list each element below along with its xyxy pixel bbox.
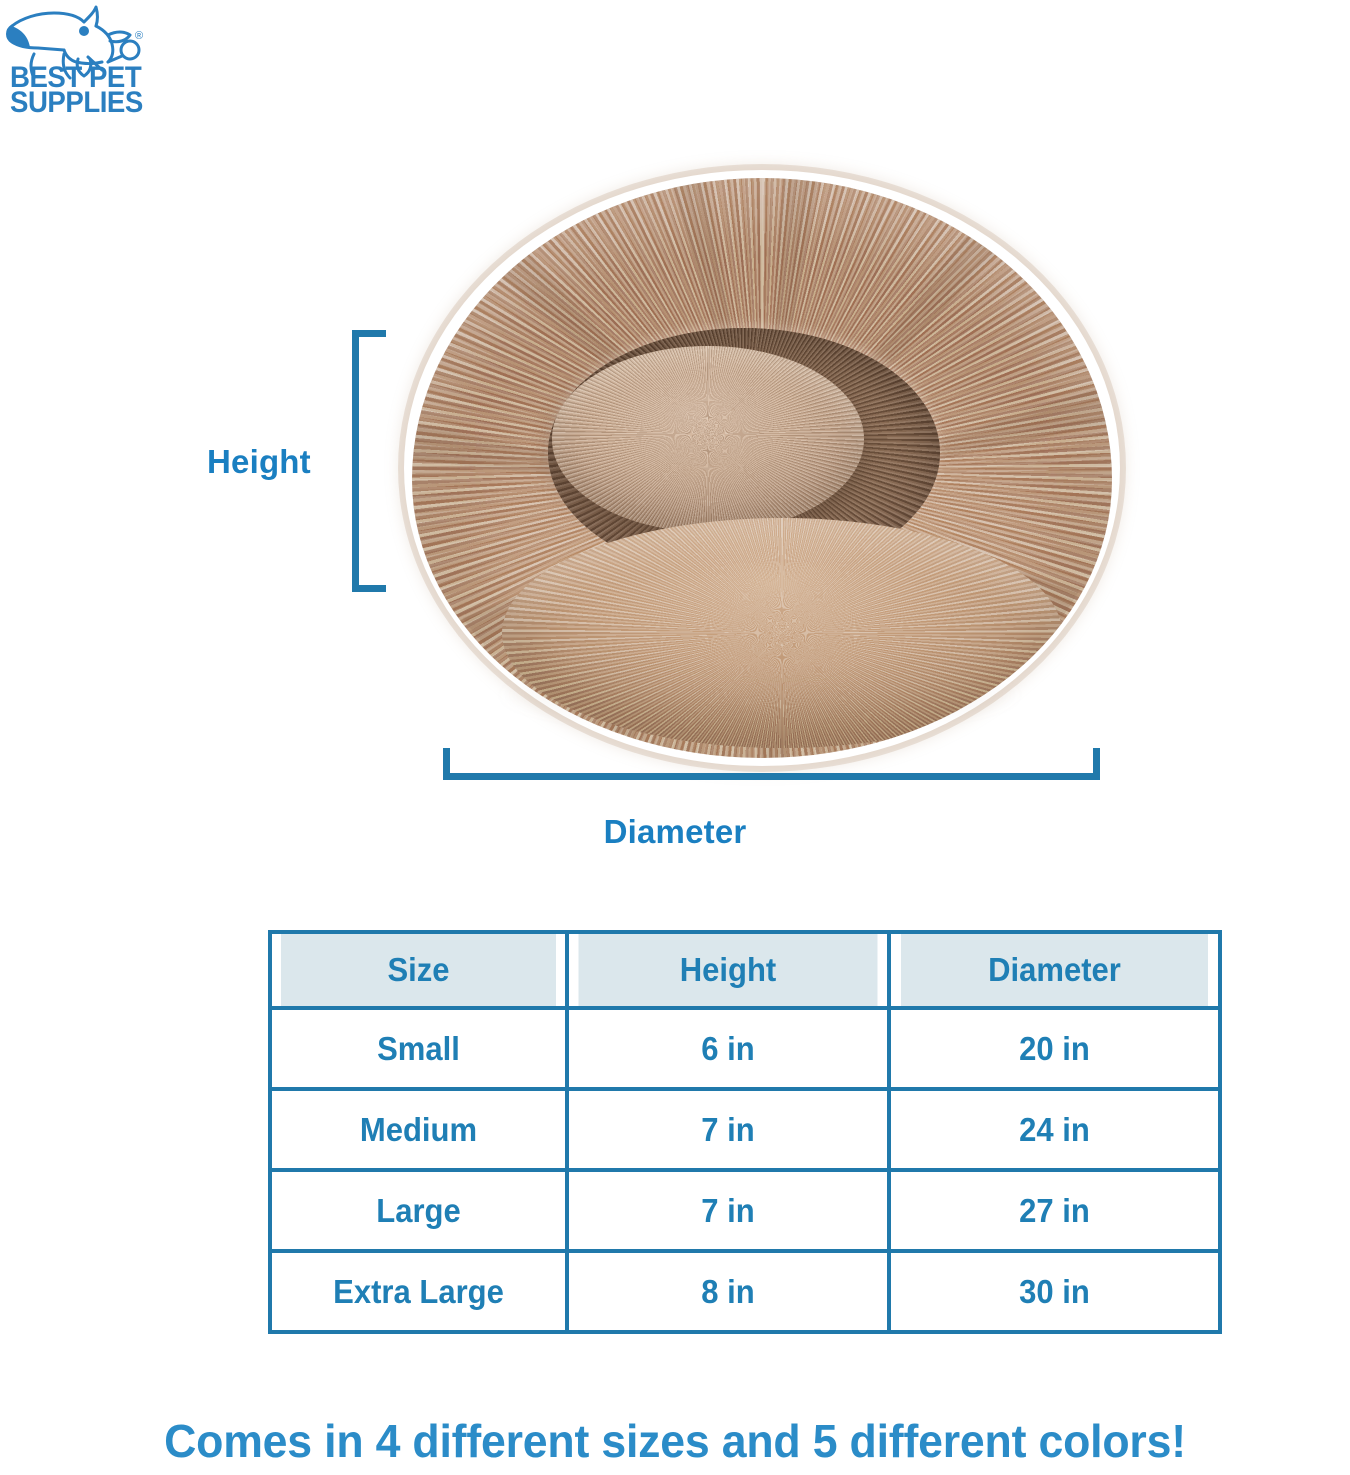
- height-callout-label: Height: [207, 443, 311, 481]
- pet-bed-illustration: [380, 160, 1140, 760]
- table-row: Large 7 in 27 in: [270, 1170, 1220, 1251]
- bed-center-cushion: [552, 346, 864, 532]
- cell-diameter: 20 in: [899, 1008, 1210, 1089]
- brand-logo: ® Best Pet Supplies: [4, 2, 174, 132]
- product-image-pet-bed: [380, 160, 1140, 760]
- bed-outer-ring: [412, 178, 1112, 758]
- front-lobe-fur-texture: [502, 518, 1062, 748]
- table-row: Small 6 in 20 in: [270, 1008, 1220, 1089]
- size-chart-table: Size Height Diameter Small 6 in 20 in Me…: [268, 930, 1222, 1334]
- brand-wordmark: Best Pet Supplies: [10, 66, 157, 115]
- diameter-bracket-icon: [443, 748, 1100, 780]
- diameter-bracket-stem: [443, 773, 1100, 780]
- table-row: Extra Large 8 in 30 in: [270, 1251, 1220, 1332]
- cell-height: 8 in: [577, 1251, 880, 1332]
- diameter-callout-label: Diameter: [0, 813, 1350, 851]
- cell-size: Large: [279, 1170, 558, 1251]
- table-row: Medium 7 in 24 in: [270, 1089, 1220, 1170]
- cell-height: 7 in: [577, 1089, 880, 1170]
- height-bracket-stem: [352, 330, 359, 592]
- table-header-diameter: Diameter: [899, 932, 1210, 1008]
- cell-diameter: 24 in: [899, 1089, 1210, 1170]
- cell-height: 7 in: [577, 1170, 880, 1251]
- table-header-height: Height: [577, 932, 880, 1008]
- cell-diameter: 30 in: [899, 1251, 1210, 1332]
- height-bracket-icon: [352, 330, 386, 592]
- brand-wordmark-line2: Supplies: [10, 91, 157, 116]
- diameter-bracket-right-arm: [1093, 748, 1100, 780]
- bed-front-lobe: [502, 518, 1062, 748]
- cell-height: 6 in: [577, 1008, 880, 1089]
- table-header-size: Size: [279, 932, 558, 1008]
- cell-size: Extra Large: [279, 1251, 558, 1332]
- cushion-fur-texture: [552, 346, 864, 532]
- cell-diameter: 27 in: [899, 1170, 1210, 1251]
- table-header-row: Size Height Diameter: [270, 932, 1220, 1008]
- cell-size: Medium: [279, 1089, 558, 1170]
- cell-size: Small: [279, 1008, 558, 1089]
- footer-tagline: Comes in 4 different sizes and 5 differe…: [20, 1414, 1330, 1468]
- height-bracket-bottom-arm: [352, 585, 386, 592]
- registered-mark: ®: [135, 30, 143, 42]
